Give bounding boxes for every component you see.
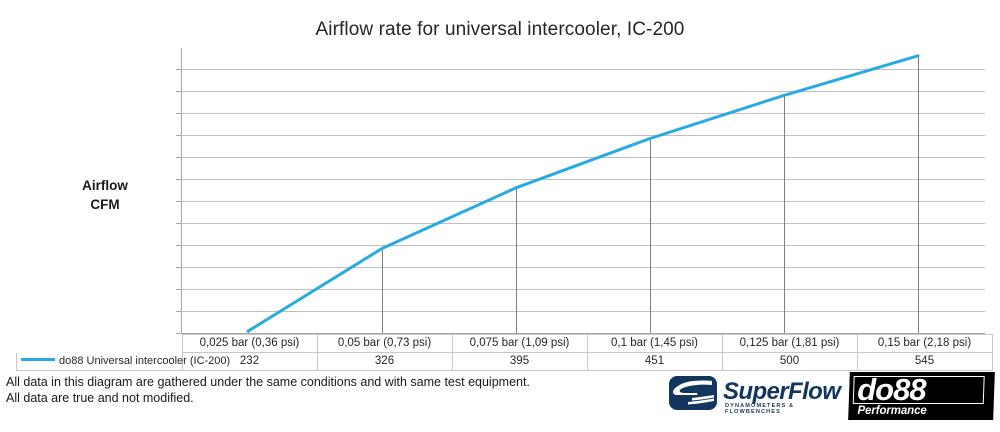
table-header-cell: 0,1 bar (1,45 psi) [587,335,722,353]
y-axis-title-line1: Airflow [52,176,158,195]
chart-title: Airflow rate for universal intercooler, … [0,19,1000,41]
footer-note: All data in this diagram are gathered un… [6,374,530,406]
data-table: 0,025 bar (0,36 psi)0,05 bar (0,73 psi)0… [16,334,993,371]
table-value-cell: 500 [722,353,857,371]
superflow-tagline: DYNAMOMETERS & FLOWBENCHES [725,403,828,415]
do88-wordmark: do88 [857,374,925,405]
superflow-logo: SuperFlow DYNAMOMETERS & FLOWBENCHES [668,374,828,418]
table-value-cell: 326 [317,353,452,371]
do88-logo: do88 Performance [848,372,995,420]
do88-subtitle: Performance [857,405,926,417]
table-corner-blank [17,335,183,353]
superflow-mark-icon [668,374,720,414]
table-value-cell: 451 [587,353,722,371]
table-header-cell: 0,05 bar (0,73 psi) [317,335,452,353]
series-polyline-do88-ic200 [248,56,918,331]
superflow-wordmark: SuperFlow [723,378,840,406]
y-axis-title-line2: CFM [52,195,158,214]
y-axis-title: Airflow CFM [52,176,158,214]
legend-label: do88 Universal intercooler (IC-200) [59,355,230,367]
plot-area: 230255280305330355380405430455480505530 [181,48,985,334]
footer-line-2: All data are true and not modified. [6,390,530,406]
table-value-cell: 545 [857,353,992,371]
table-header-cell: 0,125 bar (1,81 psi) [722,335,857,353]
series-line-chart [181,48,985,334]
table-value-cell: 395 [452,353,587,371]
legend-entry: do88 Universal intercooler (IC-200) [17,353,183,371]
table-header-cell: 0,15 bar (2,18 psi) [857,335,992,353]
table-row-categories: 0,025 bar (0,36 psi)0,05 bar (0,73 psi)0… [17,335,993,353]
table-header-cell: 0,025 bar (0,36 psi) [182,335,317,353]
footer-line-1: All data in this diagram are gathered un… [6,374,530,390]
table-header-cell: 0,075 bar (1,09 psi) [452,335,587,353]
legend-line-swatch-icon [21,358,55,361]
table-row-values: do88 Universal intercooler (IC-200) 2323… [17,353,993,371]
